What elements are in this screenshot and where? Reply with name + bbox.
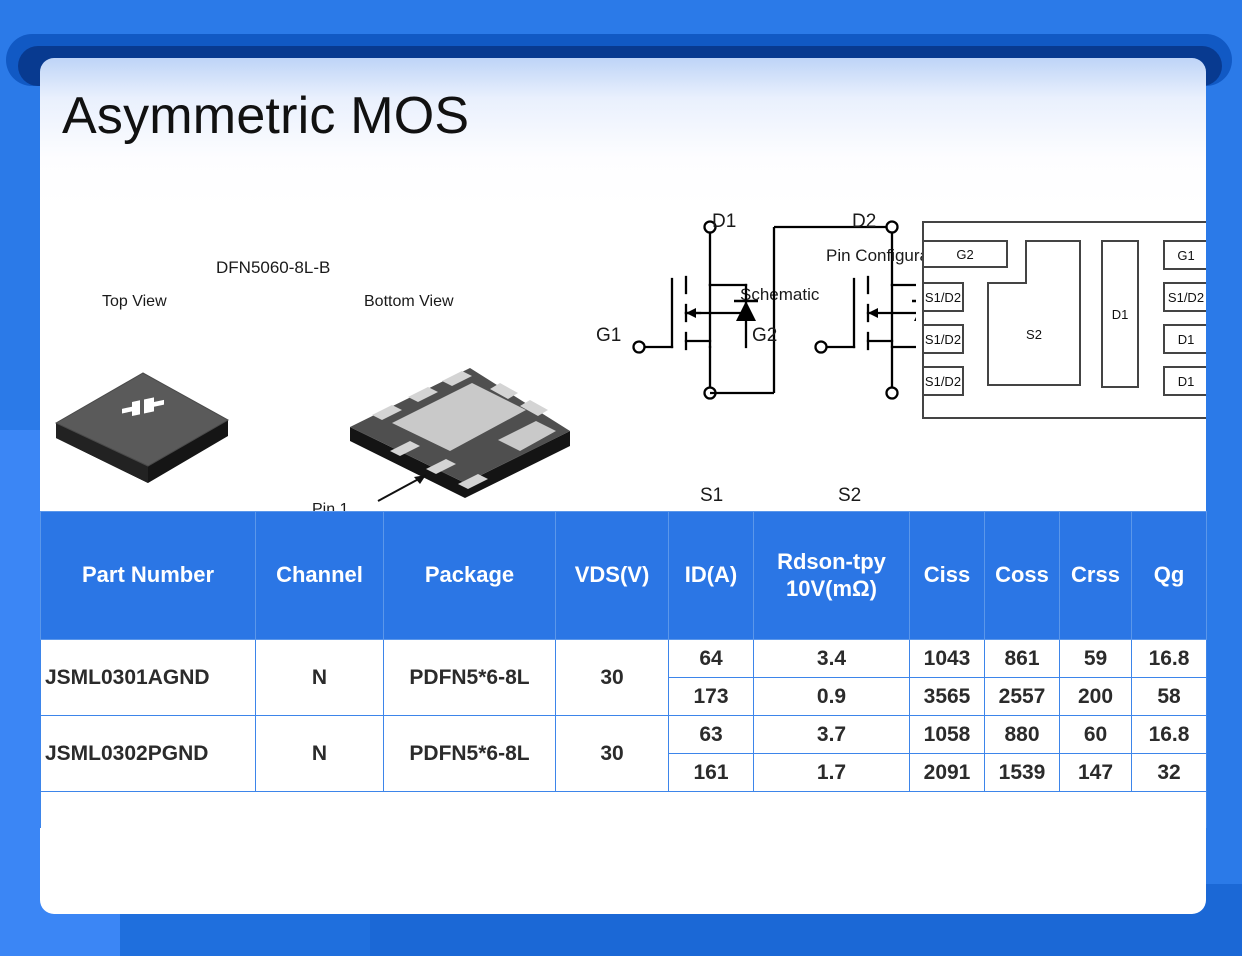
cell-qg: 16.8 <box>1132 716 1207 754</box>
cell-part-number: JSML0302PGND <box>41 716 256 792</box>
cell-rdson: 0.9 <box>754 678 910 716</box>
specification-table: Part Number Channel Package VDS(V) ID(A)… <box>40 511 1207 828</box>
cell-coss: 2557 <box>985 678 1060 716</box>
cell-ciss: 2091 <box>910 754 985 792</box>
schematic-label-d1: D1 <box>712 211 736 233</box>
schematic-label-g2: G2 <box>752 325 777 347</box>
cell-id: 63 <box>669 716 754 754</box>
table-row[interactable]: JSML0301AGND N PDFN5*6-8L 30 64 3.4 1043… <box>41 640 1207 678</box>
cell-ciss: 3565 <box>910 678 985 716</box>
cell-coss: 1539 <box>985 754 1060 792</box>
table-row-spacer <box>41 792 1207 828</box>
col-header-ciss[interactable]: Ciss <box>910 512 985 640</box>
cell-id: 64 <box>669 640 754 678</box>
schematic-label-d2: D2 <box>852 211 876 233</box>
cell-id: 161 <box>669 754 754 792</box>
cell-rdson: 3.4 <box>754 640 910 678</box>
cell-crss: 59 <box>1060 640 1132 678</box>
cell-vds: 30 <box>556 640 669 716</box>
pincfg-right-pad-1: S1/D2 <box>1168 290 1204 305</box>
pincfg-left-pad-3: S1/D2 <box>925 374 961 389</box>
col-header-rdson-line1: Rdson-tpy <box>777 549 886 574</box>
chip-bottom-view-image <box>330 323 590 508</box>
cell-crss: 147 <box>1060 754 1132 792</box>
bottom-view-label: Bottom View <box>364 293 454 311</box>
col-header-id[interactable]: ID(A) <box>669 512 754 640</box>
col-header-coss[interactable]: Coss <box>985 512 1060 640</box>
pincfg-right-pad-0: G1 <box>1177 248 1194 263</box>
col-header-part-number[interactable]: Part Number <box>41 512 256 640</box>
top-view-label: Top View <box>102 293 167 311</box>
col-header-channel[interactable]: Channel <box>256 512 384 640</box>
cell-channel: N <box>256 640 384 716</box>
cell-coss: 880 <box>985 716 1060 754</box>
chip-top-view-image <box>48 328 238 498</box>
cell-qg: 58 <box>1132 678 1207 716</box>
pincfg-left-pad-1: S1/D2 <box>925 290 961 305</box>
cell-rdson: 1.7 <box>754 754 910 792</box>
schematic-label-s1: S1 <box>700 485 723 507</box>
col-header-rdson-line2: 10V(mΩ) <box>786 576 877 601</box>
cell-ciss: 1058 <box>910 716 985 754</box>
cell-spacer <box>41 792 1207 828</box>
pincfg-left-pad-0: G2 <box>956 247 973 262</box>
cell-qg: 32 <box>1132 754 1207 792</box>
pincfg-center-pad-0: S2 <box>1026 327 1042 342</box>
pincfg-left-pad-2: S1/D2 <box>925 332 961 347</box>
cell-crss: 200 <box>1060 678 1132 716</box>
cell-qg: 16.8 <box>1132 640 1207 678</box>
package-part-label: DFN5060-8L-B <box>216 258 330 278</box>
schematic-label-g1: G1 <box>596 325 621 347</box>
cell-package: PDFN5*6-8L <box>384 716 556 792</box>
col-header-package[interactable]: Package <box>384 512 556 640</box>
cell-rdson: 3.7 <box>754 716 910 754</box>
col-header-crss[interactable]: Crss <box>1060 512 1132 640</box>
pin-configuration-diagram: G2 S1/D2 S1/D2 S1/D2 S2 D1 G1 S1/D2 D1 D… <box>920 219 1206 431</box>
cell-coss: 861 <box>985 640 1060 678</box>
cell-part-number: JSML0301AGND <box>41 640 256 716</box>
cell-id: 173 <box>669 678 754 716</box>
col-header-rdson[interactable]: Rdson-tpy 10V(mΩ) <box>754 512 910 640</box>
schematic-label-s2: S2 <box>838 485 861 507</box>
table-row[interactable]: JSML0302PGND N PDFN5*6-8L 30 63 3.7 1058… <box>41 716 1207 754</box>
pincfg-center-pad-1: D1 <box>1112 307 1129 322</box>
page-title: Asymmetric MOS <box>62 86 469 146</box>
pincfg-right-pad-3: D1 <box>1178 374 1195 389</box>
table-header-row: Part Number Channel Package VDS(V) ID(A)… <box>41 512 1207 640</box>
pincfg-right-pad-2: D1 <box>1178 332 1195 347</box>
cell-channel: N <box>256 716 384 792</box>
cell-ciss: 1043 <box>910 640 985 678</box>
col-header-vds[interactable]: VDS(V) <box>556 512 669 640</box>
cell-package: PDFN5*6-8L <box>384 640 556 716</box>
diagram-area: DFN5060-8L-B Top View Bottom View <box>40 173 1206 513</box>
cell-crss: 60 <box>1060 716 1132 754</box>
cell-vds: 30 <box>556 716 669 792</box>
col-header-qg[interactable]: Qg <box>1132 512 1207 640</box>
